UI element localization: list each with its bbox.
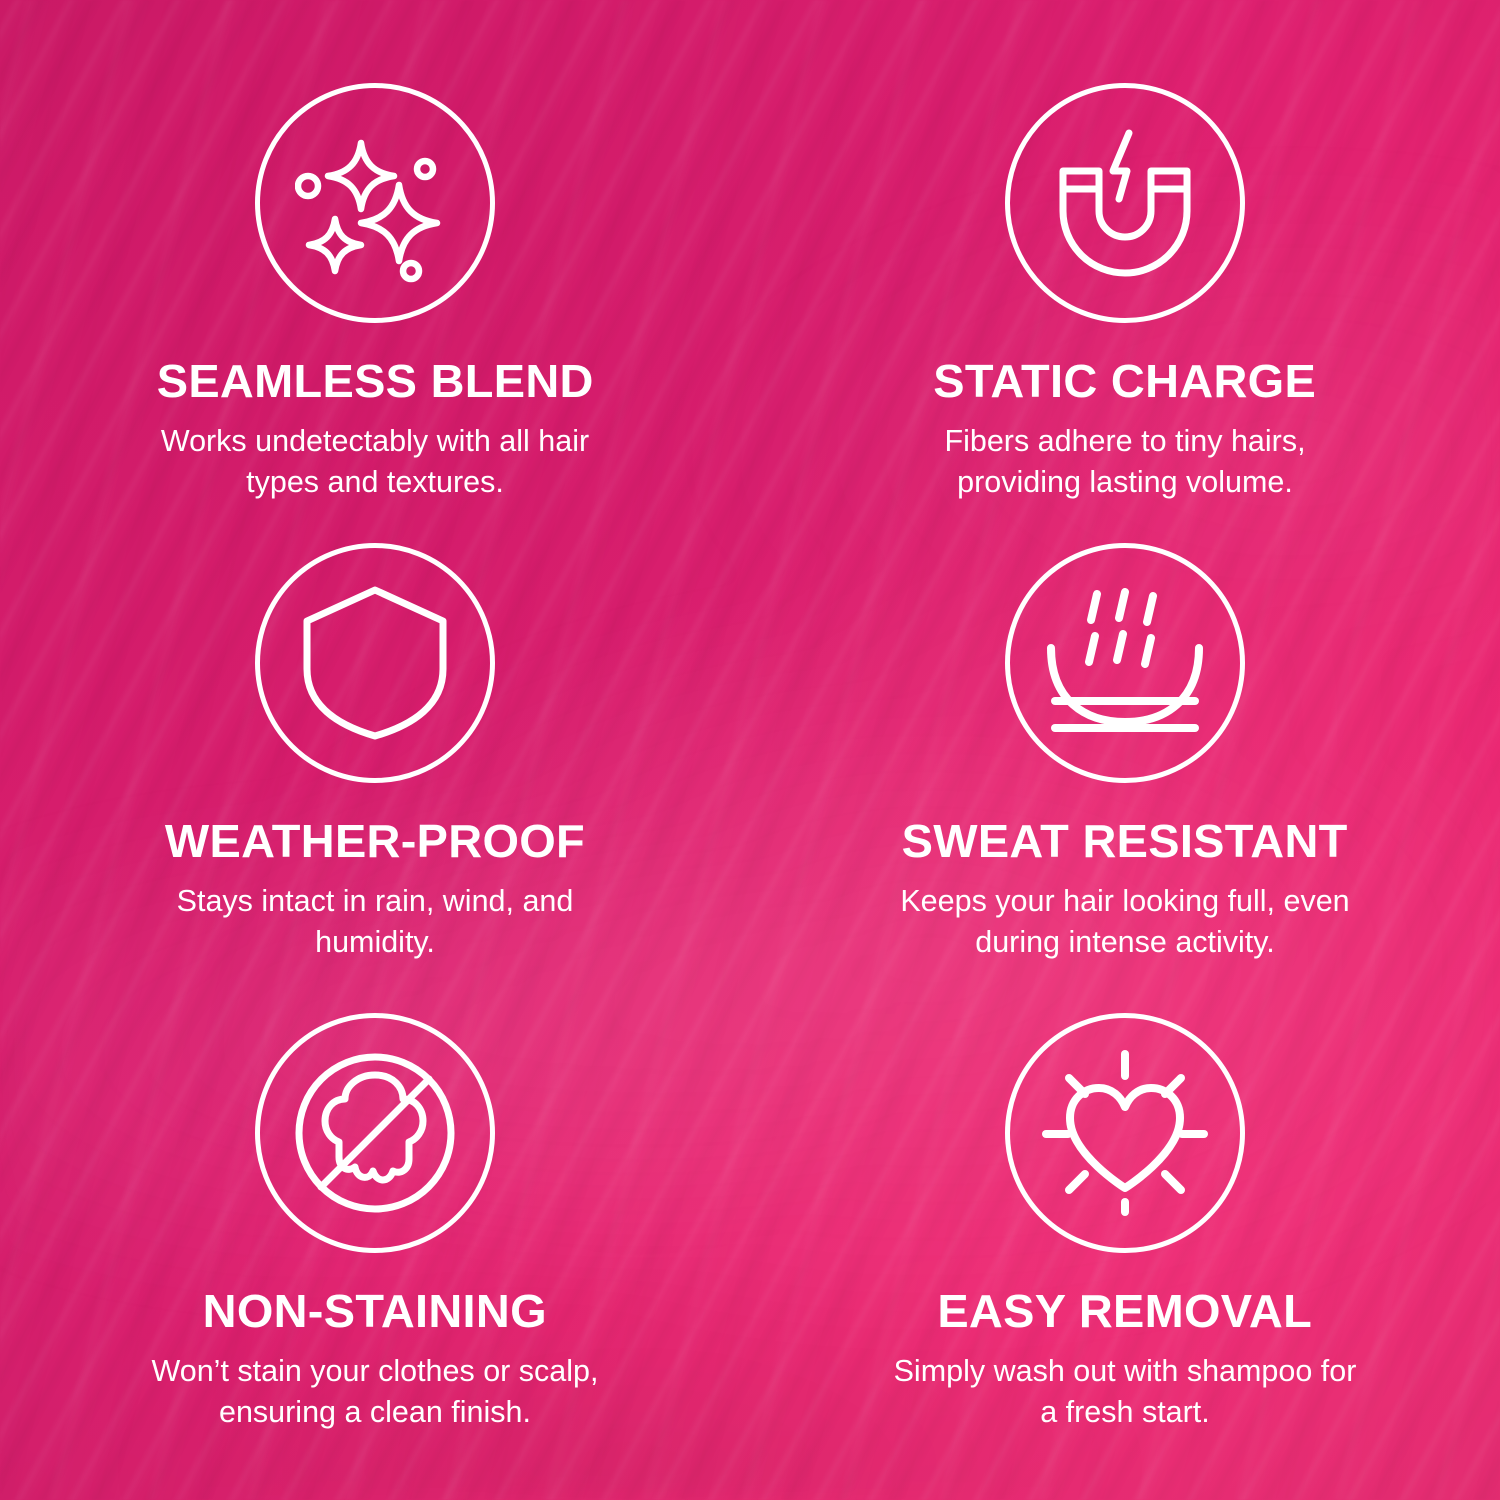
shield-icon	[255, 543, 495, 783]
infographic-canvas: SEAMLESS BLEND Works undetectably with a…	[0, 0, 1500, 1500]
feature-card-easy-removal: EASY REMOVAL Simply wash out with shampo…	[750, 940, 1500, 1500]
feature-card-static-charge: STATIC CHARGE Fibers adhere to tiny hair…	[750, 0, 1500, 470]
feature-card-sweat-resistant: SWEAT RESISTANT Keeps your hair looking …	[750, 470, 1500, 940]
water-repellent-icon	[1005, 543, 1245, 783]
feature-description: Won’t stain your clothes or scalp, ensur…	[140, 1351, 610, 1433]
feature-card-non-staining: NON-STAINING Won’t stain your clothes or…	[0, 940, 750, 1500]
heart-rays-icon	[1005, 1013, 1245, 1253]
magnet-lightning-icon	[1005, 83, 1245, 323]
feature-title: NON-STAINING	[203, 1287, 547, 1335]
feature-card-weather-proof: WEATHER-PROOF Stays intact in rain, wind…	[0, 470, 750, 940]
feature-description: Simply wash out with shampoo for a fresh…	[890, 1351, 1360, 1433]
feature-grid: SEAMLESS BLEND Works undetectably with a…	[0, 0, 1500, 1500]
feature-card-seamless-blend: SEAMLESS BLEND Works undetectably with a…	[0, 0, 750, 470]
feature-title: SEAMLESS BLEND	[156, 357, 593, 405]
sparkles-icon	[255, 83, 495, 323]
feature-title: SWEAT RESISTANT	[902, 817, 1348, 865]
feature-title: EASY REMOVAL	[938, 1287, 1313, 1335]
feature-title: STATIC CHARGE	[934, 357, 1317, 405]
no-stain-icon	[255, 1013, 495, 1253]
feature-title: WEATHER-PROOF	[165, 817, 585, 865]
